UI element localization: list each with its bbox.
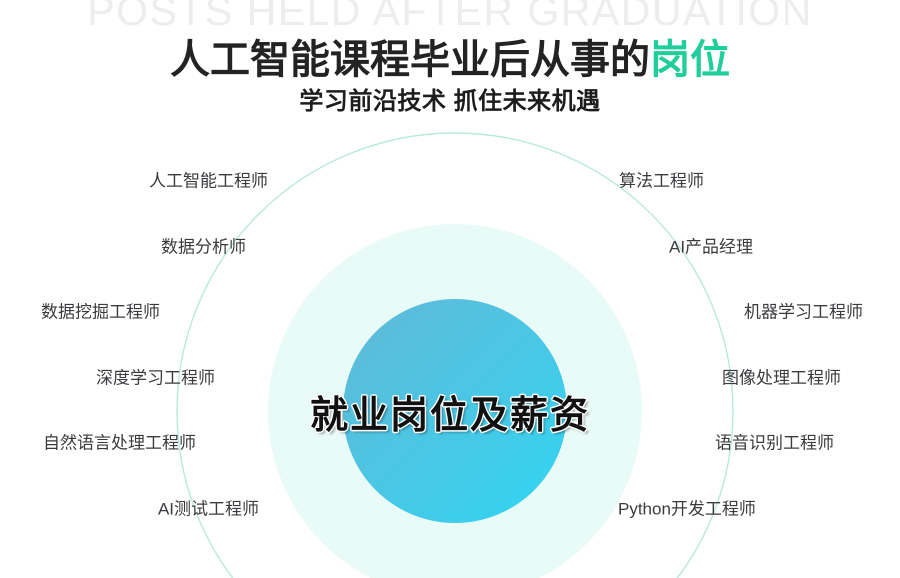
page-title-accent: 岗位 xyxy=(650,38,730,82)
job-label-left-1: 人工智能工程师 xyxy=(149,173,268,190)
page-title: 人工智能课程毕业后从事的岗位 xyxy=(0,27,900,85)
page-subtitle: 学习前沿技术 抓住未来机遇 xyxy=(0,81,900,116)
center-circle-label: 就业岗位及薪资 xyxy=(0,384,900,439)
infographic-canvas: POSTS HELD AFTER GRADUATION 人工智能课程毕业后从事的… xyxy=(0,0,900,578)
job-label-left-4: 深度学习工程师 xyxy=(96,370,215,387)
job-label-right-4: 图像处理工程师 xyxy=(722,370,841,387)
job-label-right-5: 语音识别工程师 xyxy=(715,435,834,452)
job-label-left-6: AI测试工程师 xyxy=(158,501,259,518)
page-title-main: 人工智能课程毕业后从事的 xyxy=(170,38,650,82)
job-label-right-2: AI产品经理 xyxy=(669,239,753,256)
job-label-left-3: 数据挖掘工程师 xyxy=(41,304,160,321)
job-label-right-3: 机器学习工程师 xyxy=(744,304,863,321)
job-label-right-1: 算法工程师 xyxy=(619,173,704,190)
job-label-right-6: Python开发工程师 xyxy=(618,501,756,518)
job-label-left-5: 自然语言处理工程师 xyxy=(43,435,196,452)
job-label-left-2: 数据分析师 xyxy=(161,239,246,256)
